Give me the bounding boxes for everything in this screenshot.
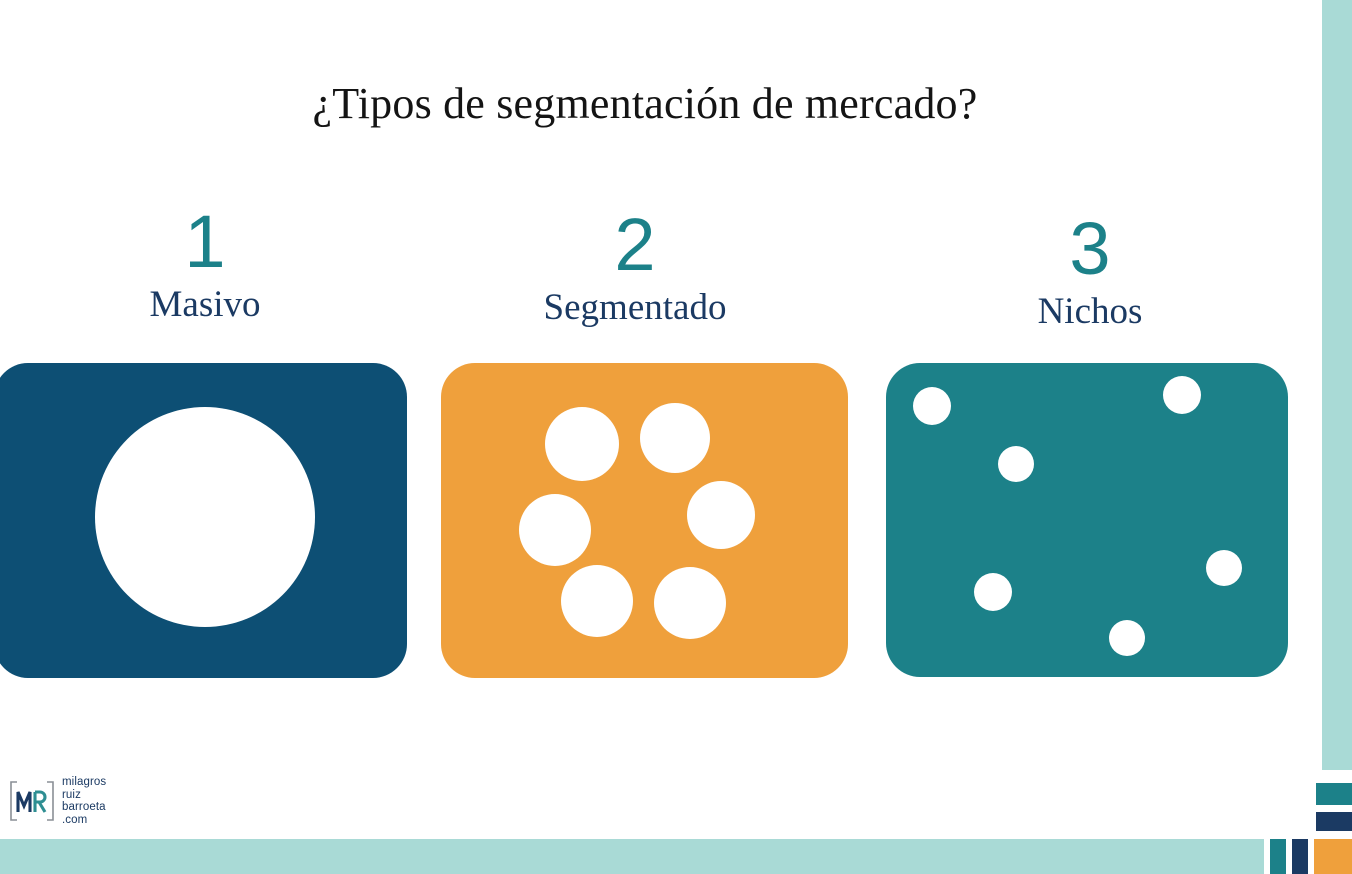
segment-dot xyxy=(640,403,710,473)
decor-bottom-navy-block xyxy=(1292,839,1308,874)
segment-dot xyxy=(1206,550,1242,586)
segment-dot xyxy=(519,494,591,566)
card-segmentado xyxy=(441,363,848,678)
segment-dot xyxy=(1109,620,1145,656)
card-masivo xyxy=(0,363,407,678)
segment-dot xyxy=(998,446,1034,482)
decor-bottom-light-bar xyxy=(0,839,1264,874)
column-header-2: 2 Segmentado xyxy=(485,208,785,328)
column-label-2: Segmentado xyxy=(485,288,785,328)
column-number-1: 1 xyxy=(55,205,355,279)
segment-dot xyxy=(545,407,619,481)
card-nichos xyxy=(886,363,1288,677)
column-number-2: 2 xyxy=(485,208,785,282)
segment-dot xyxy=(974,573,1012,611)
page-title: ¿Tipos de segmentación de mercado? xyxy=(0,78,1290,129)
segment-dot xyxy=(561,565,633,637)
decor-bottom-teal-block xyxy=(1270,839,1286,874)
decor-bottom-orange-block xyxy=(1314,839,1352,874)
slide-canvas: ¿Tipos de segmentación de mercado? 1 Mas… xyxy=(0,0,1352,874)
segment-dot xyxy=(95,407,315,627)
column-label-3: Nichos xyxy=(940,292,1240,332)
segment-dot xyxy=(1163,376,1201,414)
logo-line-2: ruiz xyxy=(62,789,106,802)
logo-wordmark: milagros ruiz barroeta .com xyxy=(62,776,106,826)
column-label-1: Masivo xyxy=(55,285,355,325)
column-number-3: 3 xyxy=(940,212,1240,286)
column-header-3: 3 Nichos xyxy=(940,212,1240,332)
decor-right-teal-block xyxy=(1316,783,1352,805)
segment-dot xyxy=(654,567,726,639)
segment-dot xyxy=(687,481,755,549)
decor-right-light-bar xyxy=(1322,0,1352,770)
logo-line-4: .com xyxy=(62,814,106,827)
milagros-ruiz-barroeta-logo: milagros ruiz barroeta .com xyxy=(8,776,106,826)
mr-monogram-icon xyxy=(8,779,56,823)
column-header-1: 1 Masivo xyxy=(55,205,355,325)
decor-right-navy-block xyxy=(1316,812,1352,831)
logo-line-3: barroeta xyxy=(62,801,106,814)
logo-line-1: milagros xyxy=(62,776,106,789)
segment-dot xyxy=(913,387,951,425)
